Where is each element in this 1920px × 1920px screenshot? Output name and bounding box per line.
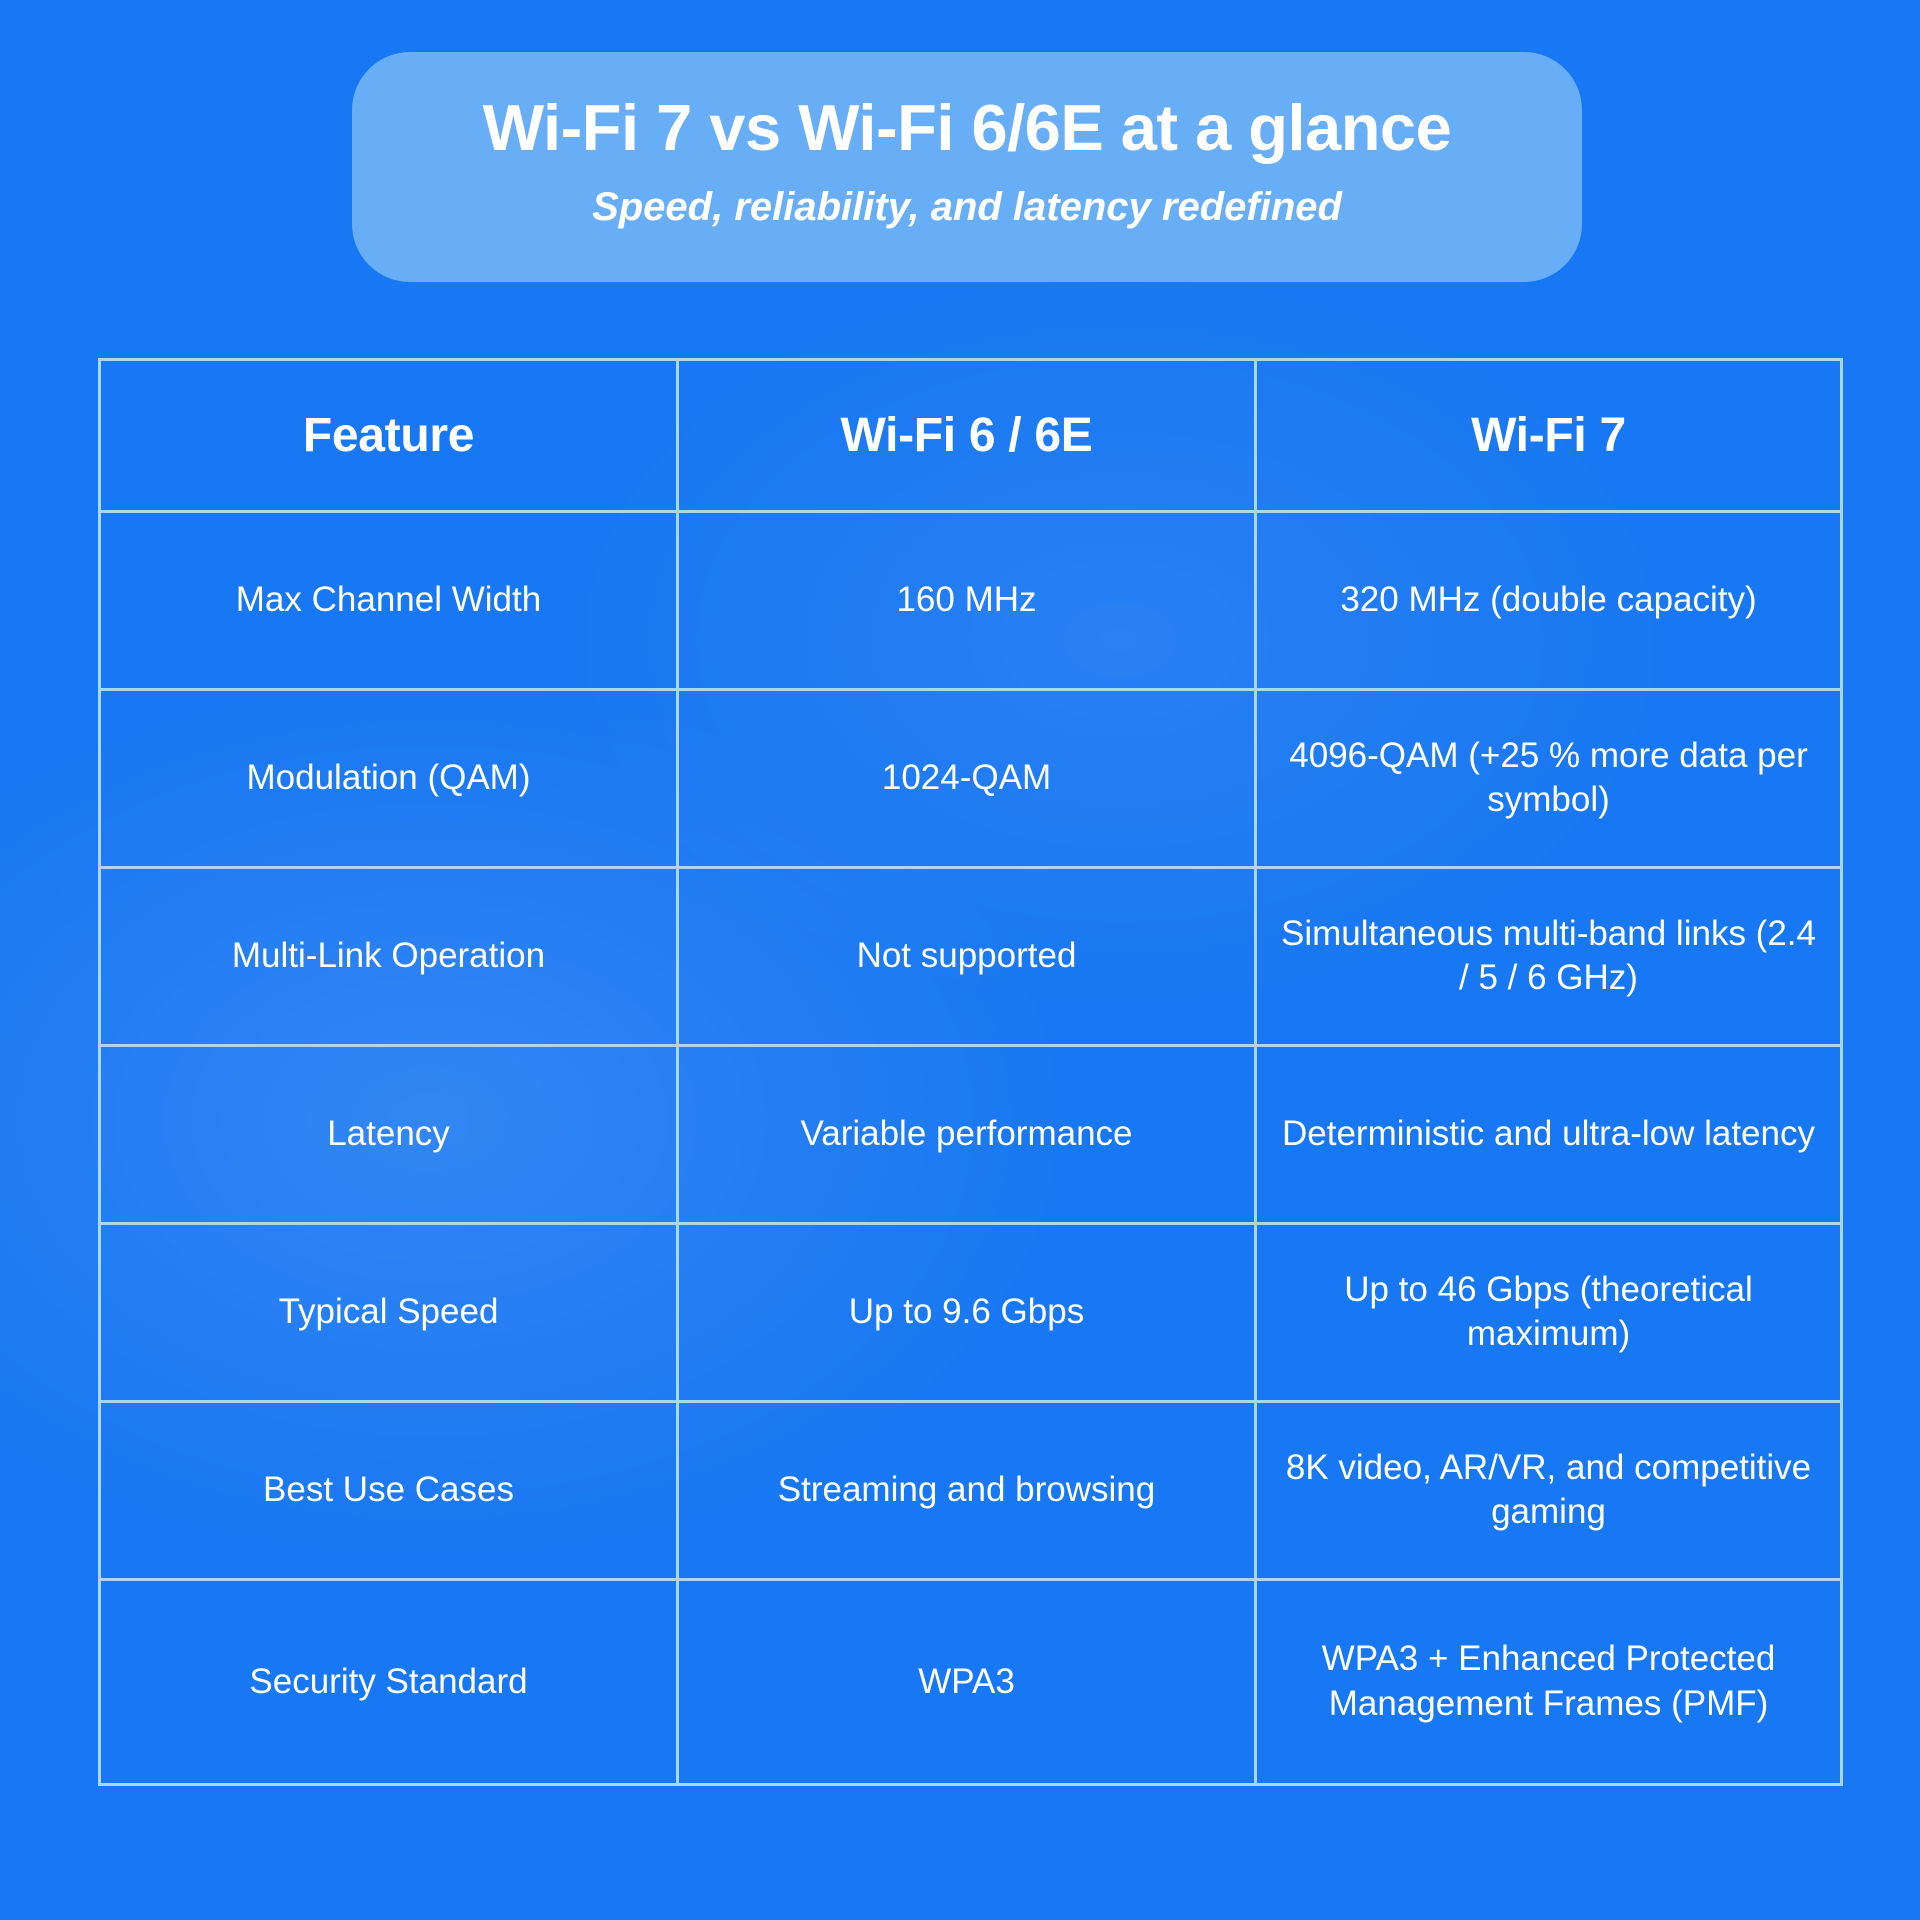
table-row: Security Standard WPA3 WPA3 + Enhanced P… bbox=[100, 1579, 1842, 1784]
column-header-wifi7: Wi-Fi 7 bbox=[1256, 360, 1842, 512]
title-banner: Wi-Fi 7 vs Wi-Fi 6/6E at a glance Speed,… bbox=[352, 52, 1582, 282]
table-row: Best Use Cases Streaming and browsing 8K… bbox=[100, 1401, 1842, 1579]
comparison-table: Feature Wi-Fi 6 / 6E Wi-Fi 7 Max Channel… bbox=[98, 358, 1843, 1786]
cell-wifi6: WPA3 bbox=[678, 1579, 1256, 1784]
cell-wifi6: 1024-QAM bbox=[678, 689, 1256, 867]
table-row: Latency Variable performance Determinist… bbox=[100, 1045, 1842, 1223]
cell-wifi7: Deterministic and ultra-low latency bbox=[1256, 1045, 1842, 1223]
table-row: Modulation (QAM) 1024-QAM 4096-QAM (+25 … bbox=[100, 689, 1842, 867]
page-subtitle: Speed, reliability, and latency redefine… bbox=[592, 185, 1342, 229]
header-row: Feature Wi-Fi 6 / 6E Wi-Fi 7 bbox=[100, 360, 1842, 512]
comparison-table-container: Feature Wi-Fi 6 / 6E Wi-Fi 7 Max Channel… bbox=[98, 358, 1840, 1786]
column-header-wifi6: Wi-Fi 6 / 6E bbox=[678, 360, 1256, 512]
cell-wifi6: Variable performance bbox=[678, 1045, 1256, 1223]
cell-wifi7: 4096-QAM (+25 % more data per symbol) bbox=[1256, 689, 1842, 867]
cell-wifi6: Not supported bbox=[678, 867, 1256, 1045]
column-header-feature: Feature bbox=[100, 360, 678, 512]
cell-feature: Multi-Link Operation bbox=[100, 867, 678, 1045]
table-row: Typical Speed Up to 9.6 Gbps Up to 46 Gb… bbox=[100, 1223, 1842, 1401]
table-row: Max Channel Width 160 MHz 320 MHz (doubl… bbox=[100, 512, 1842, 690]
cell-wifi6: 160 MHz bbox=[678, 512, 1256, 690]
infographic-page: Wi-Fi 7 vs Wi-Fi 6/6E at a glance Speed,… bbox=[0, 0, 1920, 1920]
cell-feature: Max Channel Width bbox=[100, 512, 678, 690]
cell-feature: Modulation (QAM) bbox=[100, 689, 678, 867]
cell-wifi6: Up to 9.6 Gbps bbox=[678, 1223, 1256, 1401]
cell-wifi7: 8K video, AR/VR, and competitive gaming bbox=[1256, 1401, 1842, 1579]
cell-wifi7: Up to 46 Gbps (theoretical maximum) bbox=[1256, 1223, 1842, 1401]
cell-feature: Typical Speed bbox=[100, 1223, 678, 1401]
cell-wifi7: 320 MHz (double capacity) bbox=[1256, 512, 1842, 690]
table-body: Max Channel Width 160 MHz 320 MHz (doubl… bbox=[100, 512, 1842, 1785]
table-row: Multi-Link Operation Not supported Simul… bbox=[100, 867, 1842, 1045]
cell-feature: Security Standard bbox=[100, 1579, 678, 1784]
cell-wifi7: WPA3 + Enhanced Protected Management Fra… bbox=[1256, 1579, 1842, 1784]
table-header: Feature Wi-Fi 6 / 6E Wi-Fi 7 bbox=[100, 360, 1842, 512]
cell-wifi6: Streaming and browsing bbox=[678, 1401, 1256, 1579]
cell-feature: Latency bbox=[100, 1045, 678, 1223]
cell-feature: Best Use Cases bbox=[100, 1401, 678, 1579]
cell-wifi7: Simultaneous multi-band links (2.4 / 5 /… bbox=[1256, 867, 1842, 1045]
page-title: Wi-Fi 7 vs Wi-Fi 6/6E at a glance bbox=[483, 93, 1451, 163]
